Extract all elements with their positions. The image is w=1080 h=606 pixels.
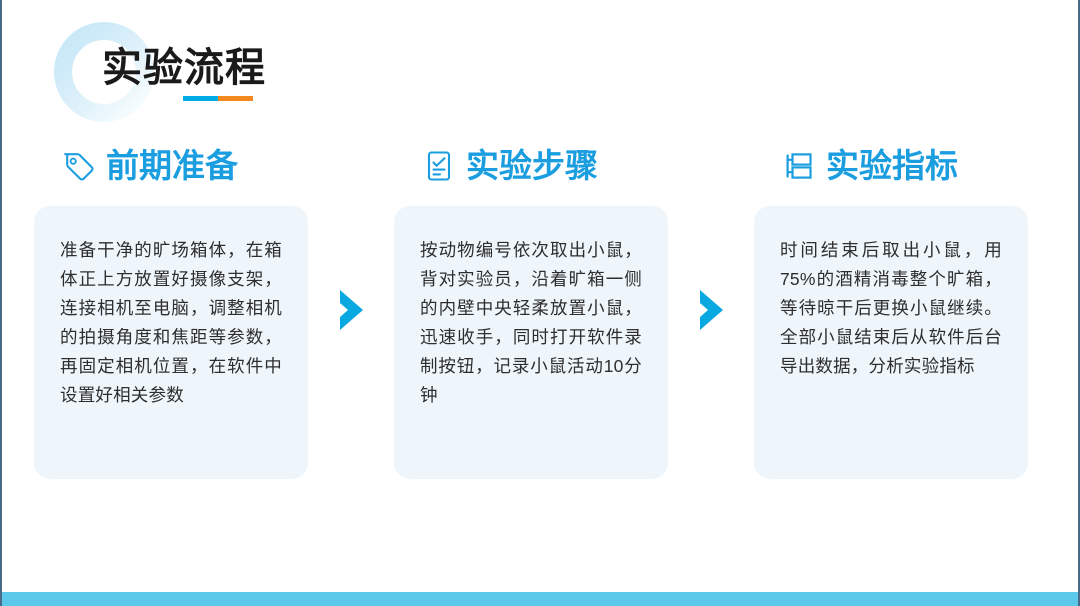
process-flow: 前期准备 准备干净的旷场箱体，在箱体正上方放置好摄像支架，连接相机至电脑，调整相… — [34, 140, 1028, 480]
page-title: 实验流程 — [102, 40, 266, 96]
tag-icon — [62, 149, 96, 183]
chevron-right-icon — [693, 287, 729, 333]
flow-step-2: 实验步骤 按动物编号依次取出小鼠，背对实验员，沿着旷箱一侧的内壁中央轻柔放置小鼠… — [394, 140, 668, 479]
chevron-right-icon — [333, 287, 369, 333]
flow-step-3-card: 时间结束后取出小鼠，用75%的酒精消毒整个旷箱，等待晾干后更换小鼠继续。全部小鼠… — [754, 206, 1028, 479]
title-underline — [183, 96, 253, 101]
footer-bar — [2, 592, 1080, 606]
flow-step-2-body: 按动物编号依次取出小鼠，背对实验员，沿着旷箱一侧的内壁中央轻柔放置小鼠，迅速收手… — [420, 236, 642, 410]
slide-title-block: 实验流程 — [102, 40, 266, 102]
flow-step-1-body: 准备干净的旷场箱体，在箱体正上方放置好摄像支架，连接相机至电脑，调整相机的拍摄角… — [60, 236, 282, 410]
flow-step-1-card: 准备干净的旷场箱体，在箱体正上方放置好摄像支架，连接相机至电脑，调整相机的拍摄角… — [34, 206, 308, 479]
flow-step-1-title: 前期准备 — [106, 148, 238, 184]
flow-connector-2 — [668, 140, 754, 480]
flow-connector-1 — [308, 140, 394, 480]
flow-step-3-title: 实验指标 — [826, 148, 958, 184]
flow-step-3-header: 实验指标 — [754, 140, 1028, 192]
flow-step-2-header: 实验步骤 — [394, 140, 668, 192]
flow-step-1: 前期准备 准备干净的旷场箱体，在箱体正上方放置好摄像支架，连接相机至电脑，调整相… — [34, 140, 308, 479]
flow-step-2-card: 按动物编号依次取出小鼠，背对实验员，沿着旷箱一侧的内壁中央轻柔放置小鼠，迅速收手… — [394, 206, 668, 479]
flow-step-3-body: 时间结束后取出小鼠，用75%的酒精消毒整个旷箱，等待晾干后更换小鼠继续。全部小鼠… — [780, 236, 1002, 381]
title-underline-orange-segment — [218, 96, 253, 101]
title-underline-cyan-segment — [183, 96, 218, 101]
flow-step-3: 实验指标 时间结束后取出小鼠，用75%的酒精消毒整个旷箱，等待晾干后更换小鼠继续… — [754, 140, 1028, 479]
flow-step-2-title: 实验步骤 — [466, 148, 598, 184]
checklist-icon — [422, 149, 456, 183]
layout-icon — [782, 149, 816, 183]
flow-step-1-header: 前期准备 — [34, 140, 308, 192]
slide-canvas: 实验流程 前期准备 准备干净的旷场箱体，在箱体正上方放置好摄像支架，连接相机至电… — [0, 0, 1080, 606]
